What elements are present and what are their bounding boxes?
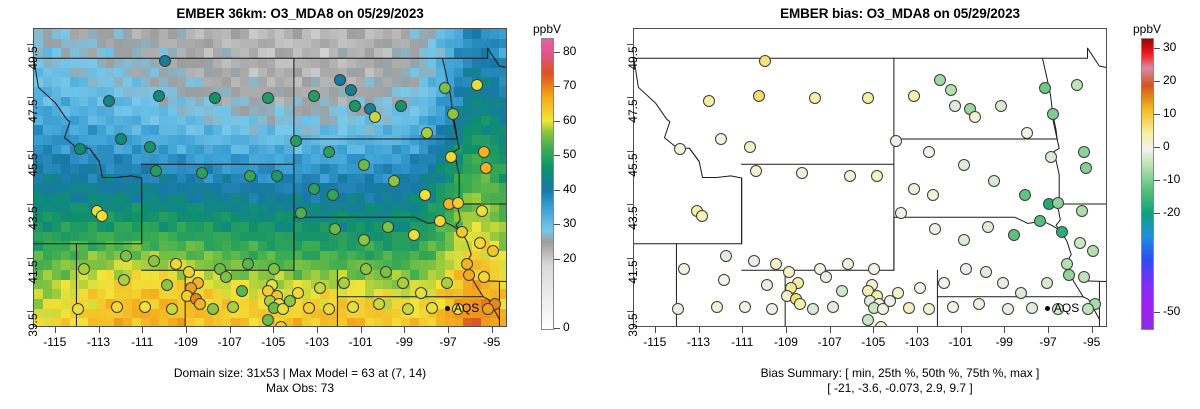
obs-marker bbox=[242, 258, 254, 270]
bias-marker bbox=[672, 303, 684, 315]
x-tick-label: -101 bbox=[341, 335, 381, 349]
colorbar-tick bbox=[1154, 114, 1160, 115]
x-tick bbox=[317, 327, 318, 333]
x-tick-label: -109 bbox=[166, 335, 206, 349]
bias-marker bbox=[945, 84, 957, 96]
bias-marker bbox=[934, 74, 946, 86]
colorbar-tick bbox=[1154, 180, 1160, 181]
x-tick bbox=[404, 327, 405, 333]
obs-marker bbox=[474, 237, 486, 249]
model-caption-line1: Domain size: 31x53 | Max Model = 63 at (… bbox=[0, 366, 600, 381]
obs-marker bbox=[275, 321, 287, 327]
obs-marker bbox=[72, 303, 84, 315]
x-tick bbox=[655, 327, 656, 333]
obs-marker bbox=[334, 74, 346, 86]
obs-marker bbox=[74, 143, 86, 155]
obs-marker bbox=[118, 274, 130, 286]
obs-marker bbox=[461, 258, 473, 270]
obs-marker bbox=[358, 159, 370, 171]
colorbar-tick bbox=[554, 259, 560, 260]
bias-marker bbox=[947, 301, 959, 313]
model-colorbar-units: ppbV bbox=[533, 22, 561, 36]
obs-marker bbox=[159, 55, 171, 67]
bias-marker bbox=[895, 207, 907, 219]
bias-marker bbox=[744, 141, 756, 153]
obs-marker bbox=[408, 229, 420, 241]
x-tick-label: -113 bbox=[79, 335, 119, 349]
bias-marker bbox=[875, 321, 887, 327]
obs-marker bbox=[271, 170, 283, 182]
obs-marker bbox=[96, 210, 108, 222]
obs-marker bbox=[236, 285, 248, 297]
obs-marker bbox=[338, 277, 350, 289]
obs-marker bbox=[441, 277, 453, 289]
bias-marker bbox=[1061, 258, 1073, 270]
bias-marker bbox=[1041, 277, 1053, 289]
obs-marker bbox=[373, 298, 385, 310]
x-tick-label: -113 bbox=[679, 335, 719, 349]
bias-marker bbox=[844, 170, 856, 182]
colorbar-tick-label: 20 bbox=[1163, 73, 1176, 87]
x-tick-label: -95 bbox=[472, 335, 512, 349]
bias-marker bbox=[938, 277, 950, 289]
bias-marker bbox=[1015, 287, 1027, 299]
bias-marker bbox=[969, 111, 981, 123]
x-tick bbox=[699, 327, 700, 333]
model-map-plot: AQS bbox=[33, 28, 507, 327]
colorbar-tick-label: 20 bbox=[563, 251, 576, 265]
x-tick-label: -107 bbox=[810, 335, 850, 349]
aqs-label: AQS bbox=[1054, 301, 1079, 315]
bias-marker bbox=[980, 266, 992, 278]
x-tick bbox=[830, 327, 831, 333]
colorbar-tick-label: -20 bbox=[1163, 205, 1180, 219]
colorbar-tick bbox=[554, 328, 560, 329]
y-tick-label: 45.5 bbox=[626, 150, 640, 180]
y-tick-label: 49.5 bbox=[26, 43, 40, 73]
bias-marker bbox=[927, 189, 939, 201]
bias-marker bbox=[1074, 237, 1086, 249]
obs-marker bbox=[262, 314, 274, 326]
bias-marker bbox=[739, 301, 751, 313]
bias-caption-line2: [ -21, -3.6, -0.073, 2.9, 9.7 ] bbox=[600, 381, 1200, 396]
bias-marker bbox=[842, 258, 854, 270]
y-tick-label: 41.5 bbox=[26, 257, 40, 287]
bias-marker bbox=[715, 133, 727, 145]
bias-marker bbox=[862, 92, 874, 104]
x-tick-label: -97 bbox=[1028, 335, 1068, 349]
x-tick bbox=[742, 327, 743, 333]
obs-marker bbox=[463, 269, 475, 281]
obs-marker bbox=[358, 234, 370, 246]
colorbar-tick bbox=[1154, 48, 1160, 49]
colorbar-tick-label: -10 bbox=[1163, 172, 1180, 186]
colorbar-tick bbox=[554, 86, 560, 87]
bias-marker bbox=[718, 274, 730, 286]
x-tick bbox=[186, 327, 187, 333]
obs-marker bbox=[419, 189, 431, 201]
figure-root: EMBER 36km: O3_MDA8 on 05/29/2023 AQS -1… bbox=[0, 0, 1200, 409]
obs-marker bbox=[347, 301, 359, 313]
x-tick-label: -107 bbox=[210, 335, 250, 349]
bias-map-plot: AQS bbox=[633, 28, 1107, 327]
colorbar-tick-label: 30 bbox=[1163, 40, 1176, 54]
bias-marker bbox=[759, 55, 771, 67]
bias-caption-line1: Bias Summary: [ min, 25th %, 50th %, 75t… bbox=[600, 366, 1200, 381]
obs-marker bbox=[476, 205, 488, 217]
x-tick-label: -115 bbox=[635, 335, 675, 349]
bias-marker bbox=[711, 301, 723, 313]
obs-marker bbox=[153, 90, 165, 102]
x-tick-label: -111 bbox=[122, 335, 162, 349]
bias-marker bbox=[783, 266, 795, 278]
x-tick-label: -111 bbox=[722, 335, 762, 349]
bias-marker bbox=[973, 298, 985, 310]
colorbar-tick-label: 70 bbox=[563, 78, 576, 92]
bias-marker bbox=[1052, 197, 1064, 209]
obs-marker bbox=[382, 221, 394, 233]
colorbar-tick-label: 80 bbox=[563, 44, 576, 58]
bias-marker bbox=[862, 314, 874, 326]
obs-marker bbox=[480, 162, 492, 174]
bias-marker bbox=[958, 234, 970, 246]
obs-marker bbox=[115, 133, 127, 145]
obs-marker bbox=[487, 245, 499, 257]
obs-marker bbox=[402, 303, 414, 315]
x-tick-label: -99 bbox=[984, 335, 1024, 349]
panel-bias: EMBER bias: O3_MDA8 on 05/29/2023 AQS -1… bbox=[600, 0, 1200, 409]
bias-marker bbox=[997, 277, 1009, 289]
obs-marker bbox=[314, 282, 326, 294]
x-tick bbox=[99, 327, 100, 333]
x-tick bbox=[917, 327, 918, 333]
bias-marker bbox=[1076, 205, 1088, 217]
obs-marker bbox=[227, 301, 239, 313]
colorbar-tick-label: 40 bbox=[563, 182, 576, 196]
bias-marker bbox=[827, 301, 839, 313]
aqs-label: AQS bbox=[454, 301, 479, 315]
obs-marker bbox=[323, 146, 335, 158]
bias-colorbar-units: ppbV bbox=[1133, 22, 1161, 36]
bias-marker bbox=[1087, 245, 1099, 257]
x-tick-label: -101 bbox=[941, 335, 981, 349]
y-tick-label: 47.5 bbox=[626, 96, 640, 126]
bias-marker bbox=[750, 165, 762, 177]
x-tick bbox=[230, 327, 231, 333]
bias-marker bbox=[794, 298, 806, 310]
bias-marker bbox=[908, 183, 920, 195]
obs-marker bbox=[166, 303, 178, 315]
x-tick-label: -105 bbox=[853, 335, 893, 349]
colorbar-tick-label: 0 bbox=[563, 320, 570, 334]
obs-marker bbox=[183, 266, 195, 278]
obs-marker bbox=[415, 287, 427, 299]
x-tick-label: -115 bbox=[35, 335, 75, 349]
colorbar-tick-label: 10 bbox=[1163, 106, 1176, 120]
obs-marker bbox=[262, 92, 274, 104]
bias-marker bbox=[1078, 146, 1090, 158]
x-tick-label: -103 bbox=[897, 335, 937, 349]
colorbar-tick-label: 30 bbox=[563, 216, 576, 230]
bias-marker bbox=[696, 210, 708, 222]
bias-marker bbox=[1008, 229, 1020, 241]
obs-marker bbox=[139, 301, 151, 313]
colorbar-tick bbox=[554, 121, 560, 122]
x-tick bbox=[492, 327, 493, 333]
obs-marker bbox=[194, 298, 206, 310]
bias-marker bbox=[1026, 302, 1038, 314]
y-tick-label: 49.5 bbox=[626, 43, 640, 73]
obs-marker bbox=[439, 82, 451, 94]
bias-marker bbox=[753, 90, 765, 102]
x-tick-label: -99 bbox=[384, 335, 424, 349]
bias-marker bbox=[836, 285, 848, 297]
obs-marker bbox=[345, 84, 357, 96]
panel-model: EMBER 36km: O3_MDA8 on 05/29/2023 AQS -1… bbox=[0, 0, 600, 409]
panel-bias-title: EMBER bias: O3_MDA8 on 05/29/2023 bbox=[600, 6, 1200, 21]
x-tick bbox=[1092, 327, 1093, 333]
bias-marker bbox=[674, 143, 686, 155]
colorbar-tick-label: 60 bbox=[563, 113, 576, 127]
obs-marker bbox=[308, 90, 320, 102]
colorbar-tick bbox=[1154, 213, 1160, 214]
obs-marker bbox=[120, 250, 132, 262]
panel-model-title: EMBER 36km: O3_MDA8 on 05/29/2023 bbox=[0, 6, 600, 21]
x-tick-label: -109 bbox=[766, 335, 806, 349]
colorbar-tick bbox=[554, 190, 560, 191]
bias-marker bbox=[914, 282, 926, 294]
obs-marker bbox=[369, 111, 381, 123]
x-tick bbox=[142, 327, 143, 333]
obs-marker bbox=[295, 207, 307, 219]
colorbar-tick bbox=[1154, 147, 1160, 148]
y-tick-label: 39.5 bbox=[626, 310, 640, 340]
x-tick bbox=[361, 327, 362, 333]
obs-marker bbox=[426, 302, 438, 314]
bias-marker bbox=[766, 303, 778, 315]
bias-marker bbox=[1002, 303, 1014, 315]
y-tick-label: 43.5 bbox=[26, 203, 40, 233]
colorbar-gradient bbox=[541, 38, 554, 330]
colorbar-tick-label: 50 bbox=[563, 147, 576, 161]
bias-marker bbox=[1056, 226, 1068, 238]
x-tick-label: -105 bbox=[253, 335, 293, 349]
obs-marker bbox=[111, 301, 123, 313]
x-tick-label: -97 bbox=[428, 335, 468, 349]
colorbar-gradient bbox=[1141, 38, 1154, 330]
y-tick-label: 47.5 bbox=[26, 96, 40, 126]
obs-marker bbox=[380, 266, 392, 278]
obs-marker bbox=[327, 189, 339, 201]
x-tick bbox=[1048, 327, 1049, 333]
obs-marker bbox=[456, 226, 468, 238]
obs-marker bbox=[452, 197, 464, 209]
bias-marker bbox=[908, 90, 920, 102]
y-tick-label: 39.5 bbox=[26, 310, 40, 340]
bias-marker bbox=[1019, 189, 1031, 201]
x-tick bbox=[873, 327, 874, 333]
x-tick bbox=[961, 327, 962, 333]
colorbar-tick-label: 0 bbox=[1163, 139, 1170, 153]
obs-marker bbox=[308, 183, 320, 195]
x-tick bbox=[55, 327, 56, 333]
colorbar-tick bbox=[554, 52, 560, 53]
x-tick-label: -103 bbox=[297, 335, 337, 349]
y-tick-label: 45.5 bbox=[26, 150, 40, 180]
colorbar-tick bbox=[1154, 81, 1160, 82]
bias-marker bbox=[720, 250, 732, 262]
bias-marker bbox=[982, 221, 994, 233]
colorbar-tick bbox=[554, 155, 560, 156]
obs-marker bbox=[478, 146, 490, 158]
colorbar-tick-label: -50 bbox=[1163, 304, 1180, 318]
y-tick-label: 41.5 bbox=[626, 257, 640, 287]
x-tick bbox=[273, 327, 274, 333]
bias-marker bbox=[1039, 82, 1051, 94]
model-caption-line2: Max Obs: 73 bbox=[0, 381, 600, 396]
obs-marker bbox=[144, 141, 156, 153]
x-tick-label: -95 bbox=[1072, 335, 1112, 349]
colorbar-tick bbox=[554, 224, 560, 225]
bias-marker bbox=[923, 146, 935, 158]
colorbar-tick bbox=[1154, 312, 1160, 313]
bias-marker bbox=[1080, 162, 1092, 174]
obs-marker bbox=[244, 170, 256, 182]
obs-marker bbox=[170, 258, 182, 270]
obs-marker bbox=[150, 165, 162, 177]
y-tick-label: 43.5 bbox=[626, 203, 640, 233]
x-tick bbox=[1004, 327, 1005, 333]
x-tick bbox=[448, 327, 449, 333]
bias-marker bbox=[1063, 269, 1075, 281]
bias-marker bbox=[770, 258, 782, 270]
x-tick bbox=[786, 327, 787, 333]
bias-marker bbox=[958, 159, 970, 171]
bias-marker bbox=[871, 170, 883, 182]
obs-marker bbox=[397, 277, 409, 289]
